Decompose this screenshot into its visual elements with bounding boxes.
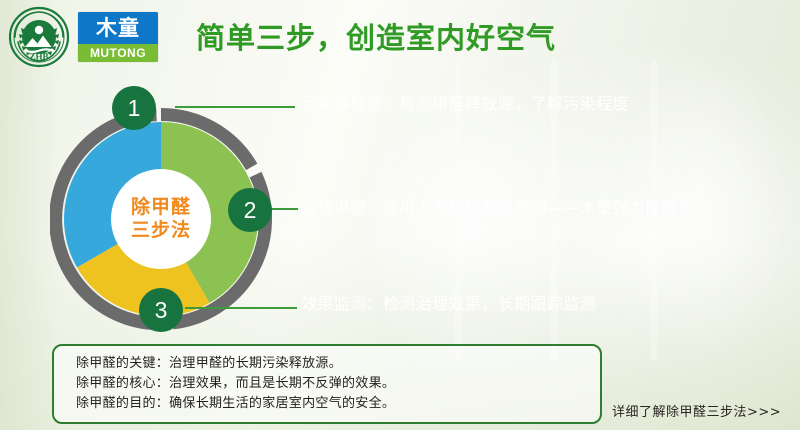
zhb-caption: ZHB [29, 52, 48, 62]
note-line-1: 除甲醛的关键：治理甲醛的长期污染释放源。 [76, 354, 600, 374]
step-badge-1[interactable]: 1 [112, 86, 156, 130]
step-row-2[interactable]: 治理甲醛：使用人造板甲醛清除剂——木童强力除醛剂 [275, 194, 760, 222]
mutong-logo-en: MUTONG [78, 44, 158, 62]
mutong-logo: 木童 MUTONG [78, 12, 158, 62]
zhb-emblem-icon: ZHB [8, 6, 70, 68]
header: ZHB 木童 MUTONG 简单三步，创造室内好空气 [0, 0, 800, 76]
summary-note-lines: 除甲醛的关键：治理甲醛的长期污染释放源。 除甲醛的核心：治理效果，而且是长期不反… [54, 346, 600, 414]
page-title: 简单三步，创造室内好空气 [196, 16, 556, 60]
mutong-logo-cn: 木童 [78, 14, 158, 42]
note-line-3: 除甲醛的目的：确保长期生活的家居室内空气的安全。 [76, 394, 600, 414]
donut-center-label: 除甲醛 三步法 [111, 169, 211, 269]
slide-canvas: ZHB 木童 MUTONG 简单三步，创造室内好空气 [0, 0, 800, 430]
step-row-1[interactable]: 污染源检测：检测甲醛释放源，了解污染程度 [275, 90, 705, 118]
donut-center-line-1: 除甲醛 [131, 196, 191, 219]
note-line-2: 除甲醛的核心：治理效果，而且是长期不反弹的效果。 [76, 374, 600, 394]
step-badge-2[interactable]: 2 [228, 188, 272, 232]
step-label-1: 污染源检测：检测甲醛释放源，了解污染程度 [301, 90, 629, 118]
step-label-3: 效果监测：检测治理效果，长期跟踪监测 [301, 290, 596, 318]
step-row-3[interactable]: 效果监测：检测治理效果，长期跟踪监测 [275, 290, 660, 318]
more-details-link[interactable]: 详细了解除甲醛三步法>>> [612, 404, 781, 422]
mutong-logo-top: 木童 [78, 12, 158, 44]
step-badge-3[interactable]: 3 [139, 288, 183, 332]
summary-note-box: 除甲醛的关键：治理甲醛的长期污染释放源。 除甲醛的核心：治理效果，而且是长期不反… [52, 344, 602, 424]
step-label-2: 治理甲醛：使用人造板甲醛清除剂——木童强力除醛剂 [301, 194, 695, 222]
donut-center-line-2: 三步法 [131, 219, 191, 242]
mutong-logo-bottom: MUTONG [78, 44, 158, 62]
